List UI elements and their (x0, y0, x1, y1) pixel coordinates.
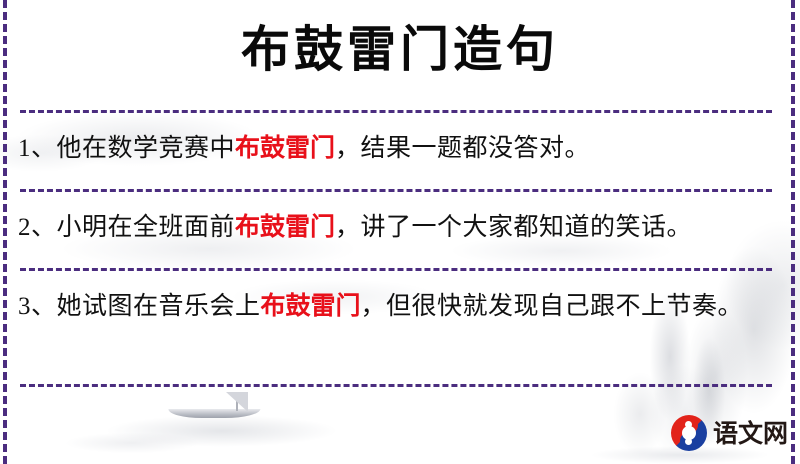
boat-hull-shape (168, 409, 261, 418)
sentence-3-number: 3、 (18, 293, 57, 320)
example-sentence-1: 1、他在数学竞赛中布鼓雷门，结果一题都没答对。 (18, 124, 780, 173)
sentence-3-text-after: ，但很快就发现自己跟不上节奏。 (361, 293, 744, 320)
yinyang-eye-blue (685, 438, 692, 445)
boat-sail-shape (216, 392, 248, 412)
site-logo-text: 语文网 (713, 421, 788, 446)
sentence-1-text-after: ，结果一题都没答对。 (335, 135, 590, 162)
page-title: 布鼓雷门造句 (0, 18, 800, 80)
ink-wash-water (60, 398, 420, 458)
example-sentence-3: 3、她试图在音乐会上布鼓雷门，但很快就发现自己跟不上节奏。 (18, 282, 780, 331)
sentence-3-idiom: 布鼓雷门 (261, 291, 361, 320)
sentence-2-text-before: 小明在全班面前 (57, 214, 236, 241)
divider-below-title (20, 110, 772, 113)
example-sentence-2: 2、小明在全班面前布鼓雷门，讲了一个大家都知道的笑话。 (18, 203, 780, 252)
page-root: 布鼓雷门造句 1、他在数学竞赛中布鼓雷门，结果一题都没答对。 2、小明在全班面前… (0, 0, 800, 464)
sentence-1-number: 1、 (18, 135, 57, 162)
yinyang-eye-red (685, 421, 692, 428)
sentence-2-idiom: 布鼓雷门 (235, 212, 335, 241)
frame-border-right (791, 0, 795, 464)
sentence-1-text-before: 他在数学竞赛中 (57, 135, 236, 162)
site-logo[interactable]: 语文网 (671, 412, 789, 454)
yinyang-logo-icon (671, 415, 707, 451)
sentence-2-number: 2、 (18, 214, 57, 241)
sentence-3-text-before: 她试图在音乐会上 (57, 293, 261, 320)
divider-after-sentence-1 (20, 189, 772, 192)
boat-mast-shape (236, 393, 238, 411)
sentence-2-text-after: ，讲了一个大家都知道的笑话。 (335, 214, 692, 241)
divider-after-sentence-2 (20, 268, 772, 271)
frame-border-left (3, 0, 7, 464)
sentence-1-idiom: 布鼓雷门 (235, 133, 335, 162)
ink-wash-boat (168, 396, 263, 422)
divider-after-sentence-3 (20, 384, 772, 387)
